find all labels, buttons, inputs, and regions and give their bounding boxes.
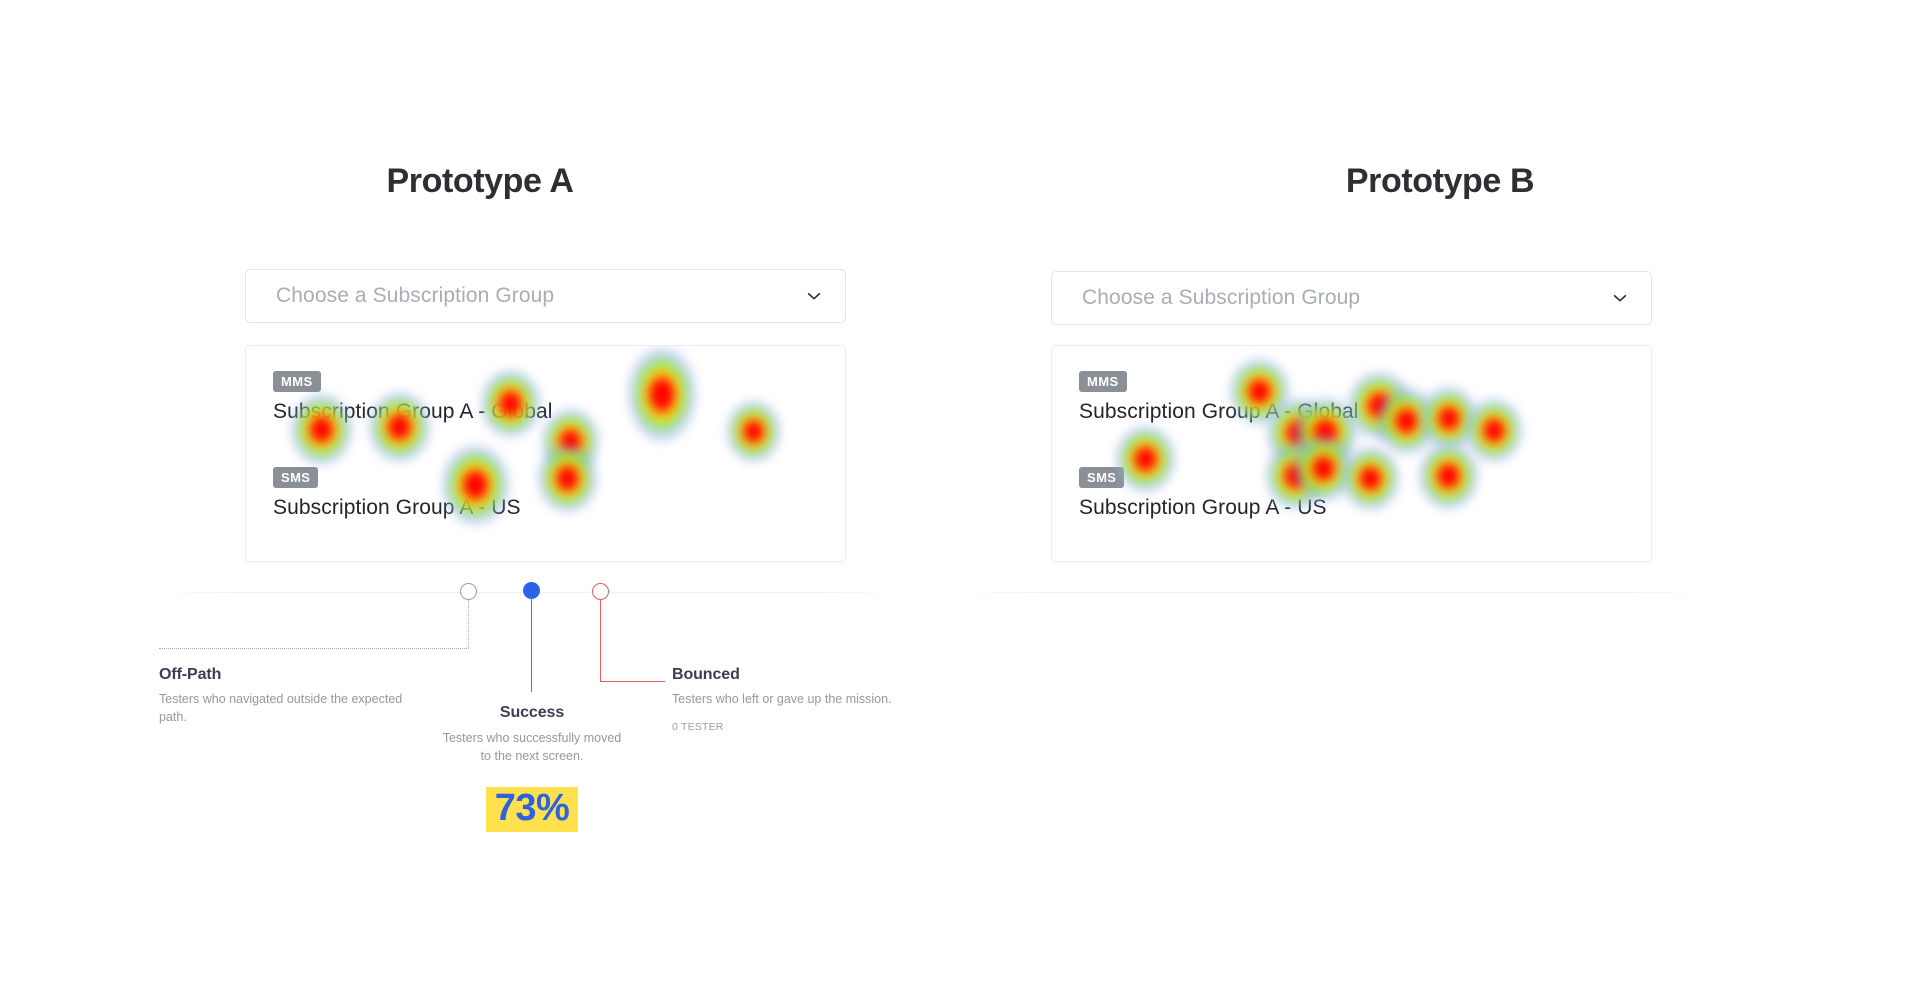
metrics-baseline-b	[955, 592, 1710, 593]
success-percent-a: 73%	[486, 787, 579, 832]
off-path-connector-horizontal-a	[159, 648, 469, 649]
success-title-a: Success	[436, 704, 628, 722]
bounced-tester-count-a: 0 TESTER	[672, 721, 912, 733]
prototype-a-panel: Prototype A Choose a Subscription Group …	[0, 0, 960, 1004]
bounced-title-a: Bounced	[672, 666, 912, 684]
off-path-title-a: Off-Path	[159, 666, 407, 684]
off-path-description-a: Testers who navigated outside the expect…	[159, 690, 407, 726]
prototype-b-panel: Prototype B Choose a Subscription Group …	[960, 0, 1920, 1004]
bounced-label-a: Bounced Testers who left or gave up the …	[672, 666, 912, 733]
success-marker-a[interactable]	[523, 582, 540, 599]
off-path-label-a: Off-Path Testers who navigated outside t…	[159, 666, 407, 726]
success-label-a: Success Testers who successfully moved t…	[436, 704, 628, 765]
bounced-description-a: Testers who left or gave up the mission.	[672, 690, 912, 708]
prototype-b-metrics: Off-Path Testers who navigated outside t…	[960, 0, 1920, 1004]
success-percent-wrap-a: 73%	[436, 787, 628, 832]
comparison-canvas: Prototype A Choose a Subscription Group …	[0, 0, 1920, 1004]
success-connector-a	[531, 598, 532, 692]
bounced-connector-horizontal-a	[600, 681, 665, 682]
bounced-marker-a[interactable]	[592, 583, 609, 600]
bounced-connector-vertical-a	[600, 600, 601, 681]
off-path-connector-vertical-a	[468, 600, 469, 648]
prototype-a-metrics: Off-Path Testers who navigated outside t…	[0, 0, 960, 1004]
success-description-a: Testers who successfully moved to the ne…	[436, 729, 628, 765]
off-path-marker-a[interactable]	[460, 583, 477, 600]
